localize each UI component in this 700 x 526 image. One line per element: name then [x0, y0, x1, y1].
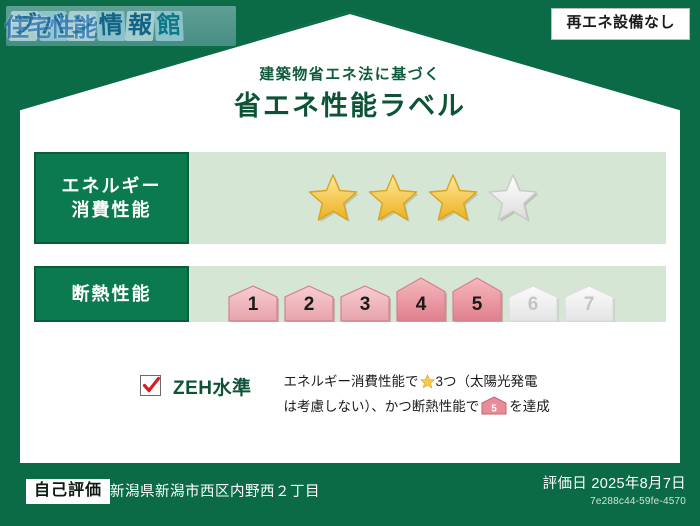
zeh-desc-part1: エネルギー消費性能で [284, 374, 419, 389]
label-title-block: 建築物省エネ法に基づく 省エネ性能ラベル [0, 66, 700, 122]
row-insulation-label: 断熱性能 [34, 266, 189, 322]
logo-char: 館 [154, 11, 184, 41]
title-subtitle: 建築物省エネ法に基づく [0, 66, 700, 84]
row-insulation-label-line1: 断熱性能 [72, 282, 152, 306]
insulation-grade-number: 4 [395, 294, 447, 316]
footer-bar: 自己評価 新潟県新潟市西区内野西２丁目 評価日 2025年8月7日 7e288c… [0, 465, 700, 526]
star-rating [189, 173, 539, 223]
zeh-desc-part2: 3つ（太陽光発電 [436, 374, 538, 389]
inline-grade-number: 5 [491, 403, 497, 414]
insulation-grade-number: 5 [451, 294, 503, 316]
inline-grade-badge: 5 [481, 396, 507, 422]
row-energy-label: エネルギー 消費性能 [34, 152, 189, 244]
self-evaluation-badge: 自己評価 [26, 479, 110, 504]
insulation-grade-number: 7 [563, 294, 615, 316]
row-insulation-performance: 断熱性能 1234567 [34, 266, 666, 322]
insulation-grade-number: 6 [507, 294, 559, 316]
star-filled-icon [367, 173, 419, 223]
logo-char: 情 [96, 11, 126, 41]
insulation-grade-number: 2 [283, 294, 335, 316]
row-energy-value [189, 152, 666, 244]
insulation-grade-6: 6 [507, 284, 559, 322]
site-logo-watermark: ブ バ ン 情 報 館 [6, 6, 236, 46]
renewable-energy-badge: 再エネ設備なし [551, 8, 690, 40]
row-energy-performance: エネルギー 消費性能 [34, 152, 666, 244]
zeh-description: エネルギー消費性能で3つ（太陽光発電 は考慮しない）、かつ断熱性能で5を達成 [284, 372, 550, 422]
insulation-grade-7: 7 [563, 284, 615, 322]
label-root: 再エネ設備なし ブ バ ン 情 報 館 住宅性能 建築物省エネ法に基づく 省エネ… [0, 0, 700, 526]
evaluation-date: 評価日 2025年8月7日 [543, 475, 686, 494]
zeh-desc-part4: を達成 [509, 399, 550, 414]
insulation-grade-scale: 1234567 [189, 266, 615, 322]
zeh-desc-part3: は考慮しない）、かつ断熱性能で [284, 399, 480, 414]
insulation-grade-5: 5 [451, 276, 503, 322]
row-energy-label-line2: 消費性能 [72, 198, 152, 222]
logo-char: バ [38, 11, 68, 41]
property-address: 新潟県新潟市西区内野西２丁目 [110, 483, 320, 502]
insulation-grade-2: 2 [283, 284, 335, 322]
star-filled-icon [427, 173, 479, 223]
logo-char: ン [67, 11, 97, 41]
check-icon [142, 376, 161, 395]
logo-char: 報 [125, 11, 155, 41]
page-title: 省エネ性能ラベル [0, 90, 700, 122]
insulation-grade-3: 3 [339, 284, 391, 322]
zeh-block: ZEH水準 エネルギー消費性能で3つ（太陽光発電 は考慮しない）、かつ断熱性能で… [140, 372, 550, 422]
row-energy-label-line1: エネルギー [62, 174, 162, 198]
zeh-checkbox[interactable] [140, 375, 161, 396]
zeh-title: ZEH水準 [173, 373, 252, 400]
insulation-grade-1: 1 [227, 284, 279, 322]
secondary-logo-watermark: 住宅性能 [4, 8, 154, 44]
star-empty-icon [487, 173, 539, 223]
insulation-grade-number: 1 [227, 294, 279, 316]
inline-star-icon [420, 374, 435, 396]
insulation-grade-4: 4 [395, 276, 447, 322]
row-insulation-value: 1234567 [189, 266, 666, 322]
evaluation-id: 7e288c44-59fe-4570 [590, 495, 686, 508]
logo-char: ブ [9, 11, 39, 41]
star-filled-icon [307, 173, 359, 223]
insulation-grade-number: 3 [339, 294, 391, 316]
